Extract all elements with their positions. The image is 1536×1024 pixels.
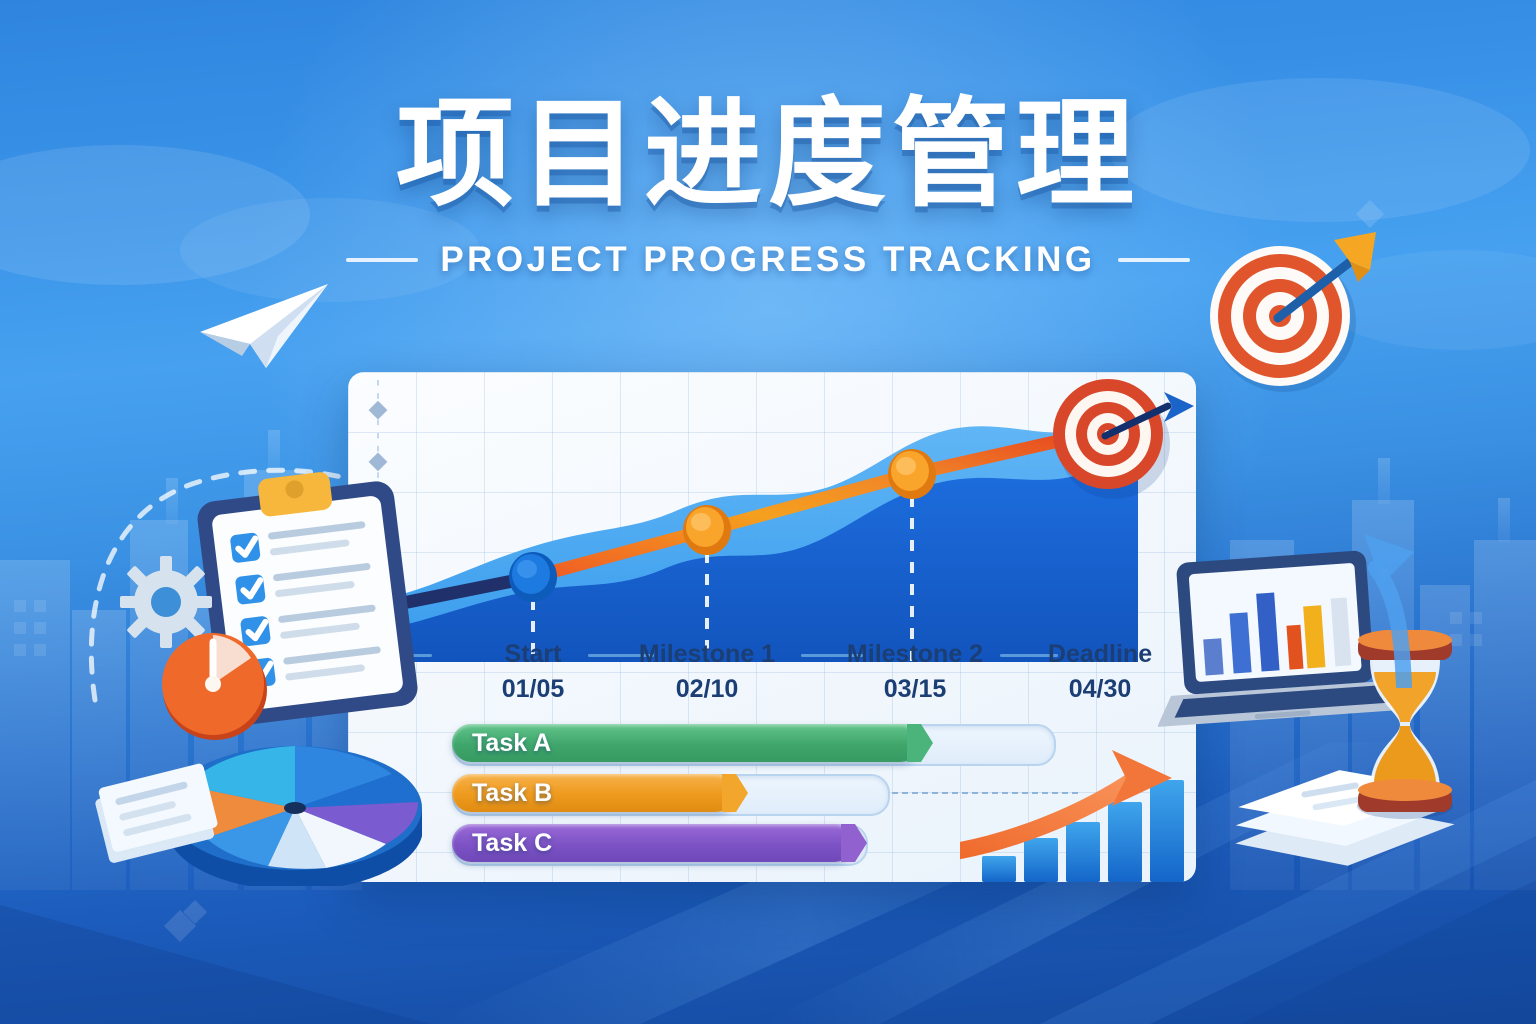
milestone-name: Deadline — [1048, 640, 1152, 669]
document-stack-icon — [92, 760, 232, 870]
milestone-name: Milestone 1 — [639, 640, 775, 669]
milestone-date: 04/30 — [1048, 675, 1152, 704]
progress-chart — [348, 372, 1196, 662]
milestone-marker-start — [509, 552, 557, 602]
milestone-label-deadline[interactable]: Deadline 04/30 — [1048, 640, 1152, 704]
subtitle-dash-right — [1118, 258, 1190, 262]
growth-arrow-icon — [960, 744, 1210, 884]
milestone-date: 03/15 — [847, 675, 983, 704]
gantt-task-label: Task A — [472, 724, 551, 762]
gantt-task-label: Task B — [472, 774, 552, 812]
milestone-label-2[interactable]: Milestone 2 03/15 — [847, 640, 983, 704]
gantt-task-label: Task C — [472, 824, 552, 862]
milestone-label-start[interactable]: Start 01/05 — [502, 640, 565, 704]
milestone-name: Start — [502, 640, 565, 669]
page-title: 项目进度管理 — [0, 96, 1536, 214]
page-subtitle: PROJECT PROGRESS TRACKING — [440, 240, 1095, 280]
paper-plane-icon — [192, 278, 332, 378]
milestone-date: 01/05 — [502, 675, 565, 704]
milestone-marker-2 — [888, 449, 936, 499]
milestone-label-1[interactable]: Milestone 1 02/10 — [639, 640, 775, 704]
poster-canvas: 项目进度管理 PROJECT PROGRESS TRACKING — [0, 0, 1536, 1024]
up-arrow-icon — [1362, 528, 1452, 688]
milestone-date: 02/10 — [639, 675, 775, 704]
milestone-marker-1 — [683, 505, 731, 555]
deadline-target-icon — [1053, 379, 1194, 499]
subtitle-dash-left — [346, 258, 418, 262]
milestone-name: Milestone 2 — [847, 640, 983, 669]
milestone-axis: Start 01/05 Milestone 1 02/10 Milestone … — [348, 640, 1196, 720]
target-arrow-icon — [1198, 226, 1388, 396]
